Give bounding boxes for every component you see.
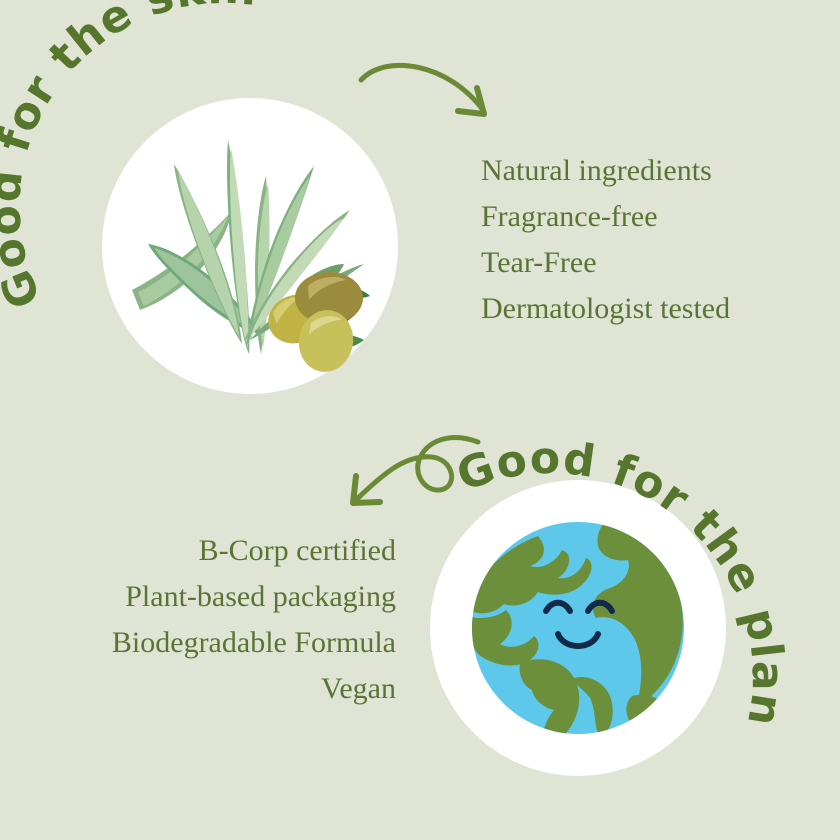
list-item: Tear-Free <box>481 240 730 286</box>
planet-feature-list: B-Corp certified Plant-based packaging B… <box>46 528 396 712</box>
looping-curved-arrow-down-left-icon <box>330 420 515 535</box>
infographic-canvas: Good for the skin Natural ingredients Fr… <box>0 0 840 840</box>
list-item: Plant-based packaging <box>46 574 396 620</box>
list-item: Fragrance-free <box>481 194 730 240</box>
list-item: Biodegradable Formula <box>46 620 396 666</box>
list-item: Vegan <box>46 666 396 712</box>
list-item: Natural ingredients <box>481 148 730 194</box>
skin-feature-list: Natural ingredients Fragrance-free Tear-… <box>481 148 730 332</box>
curved-arrow-down-right-icon <box>355 48 535 138</box>
skin-heading-text: Good for the skin <box>0 0 260 315</box>
list-item: Dermatologist tested <box>481 286 730 332</box>
